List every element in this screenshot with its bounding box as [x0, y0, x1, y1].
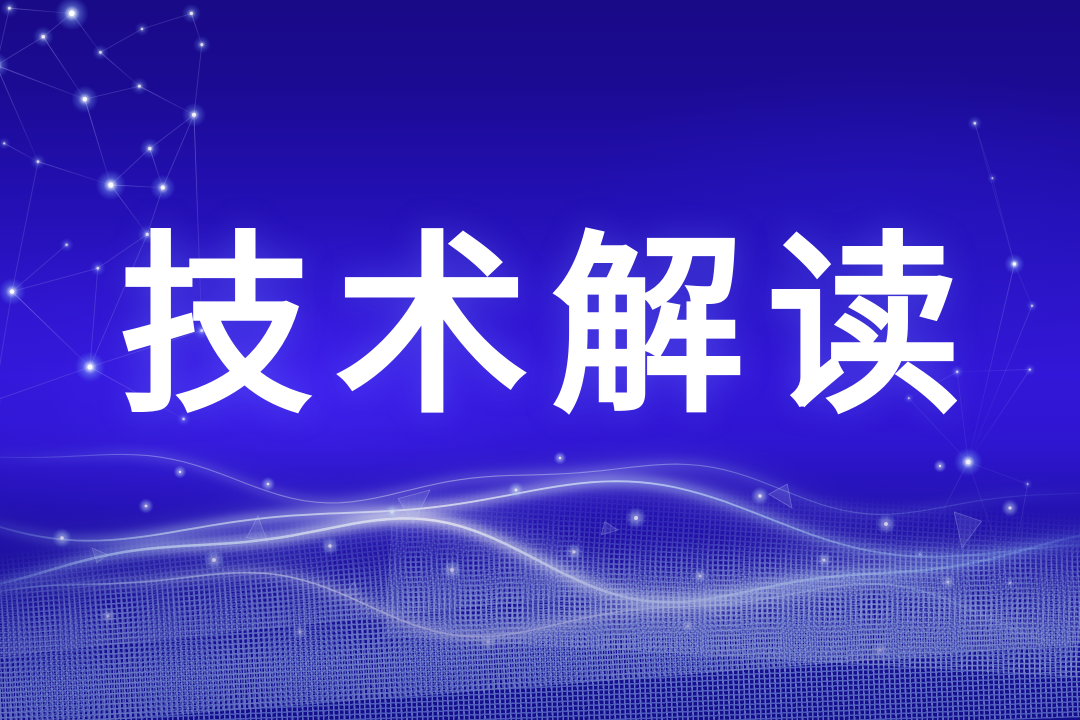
network-node — [83, 97, 88, 102]
network-node — [141, 28, 143, 30]
network-edge — [992, 178, 1014, 264]
network-node — [69, 11, 75, 17]
network-node — [96, 267, 99, 270]
network-node — [991, 177, 993, 179]
network-top-left — [0, 0, 211, 426]
network-node — [41, 35, 45, 39]
network-node — [1029, 369, 1031, 371]
network-edge — [975, 123, 993, 178]
network-node — [10, 289, 15, 294]
network-node — [956, 371, 958, 373]
network-node — [161, 185, 165, 189]
wave-sparkle — [267, 483, 270, 486]
wave-sparkle — [179, 471, 181, 473]
network-edge — [909, 372, 957, 398]
tech-banner: 技术解读 — [0, 0, 1080, 720]
network-node — [108, 182, 113, 187]
network-node — [200, 43, 203, 46]
network-node-glow — [0, 53, 9, 79]
network-node-glow — [0, 137, 11, 150]
network-node — [37, 160, 40, 163]
network-node — [87, 364, 92, 369]
network-edge — [90, 367, 184, 419]
network-node — [1031, 305, 1033, 307]
wave-field — [0, 420, 1080, 720]
network-edge — [0, 292, 12, 401]
network-edge — [194, 115, 202, 331]
network-node — [3, 142, 5, 144]
network-node — [190, 12, 193, 15]
network-node — [192, 113, 196, 117]
network-node — [200, 329, 203, 332]
network-node — [148, 147, 152, 151]
network-edge — [975, 123, 1015, 264]
network-node — [8, 7, 11, 10]
wave-sparkle — [559, 457, 561, 459]
network-node — [1013, 262, 1016, 265]
network-edge — [12, 292, 90, 367]
network-edge — [957, 370, 1030, 372]
wave-sparkle — [939, 465, 941, 467]
network-node — [65, 244, 67, 246]
network-node — [138, 85, 141, 88]
network-node — [974, 122, 977, 125]
network-node — [908, 397, 910, 399]
wave-sparkle — [145, 505, 148, 508]
network-node — [146, 233, 149, 236]
network-node-glow — [0, 393, 2, 409]
network-edge — [90, 331, 202, 367]
network-node — [99, 51, 102, 54]
